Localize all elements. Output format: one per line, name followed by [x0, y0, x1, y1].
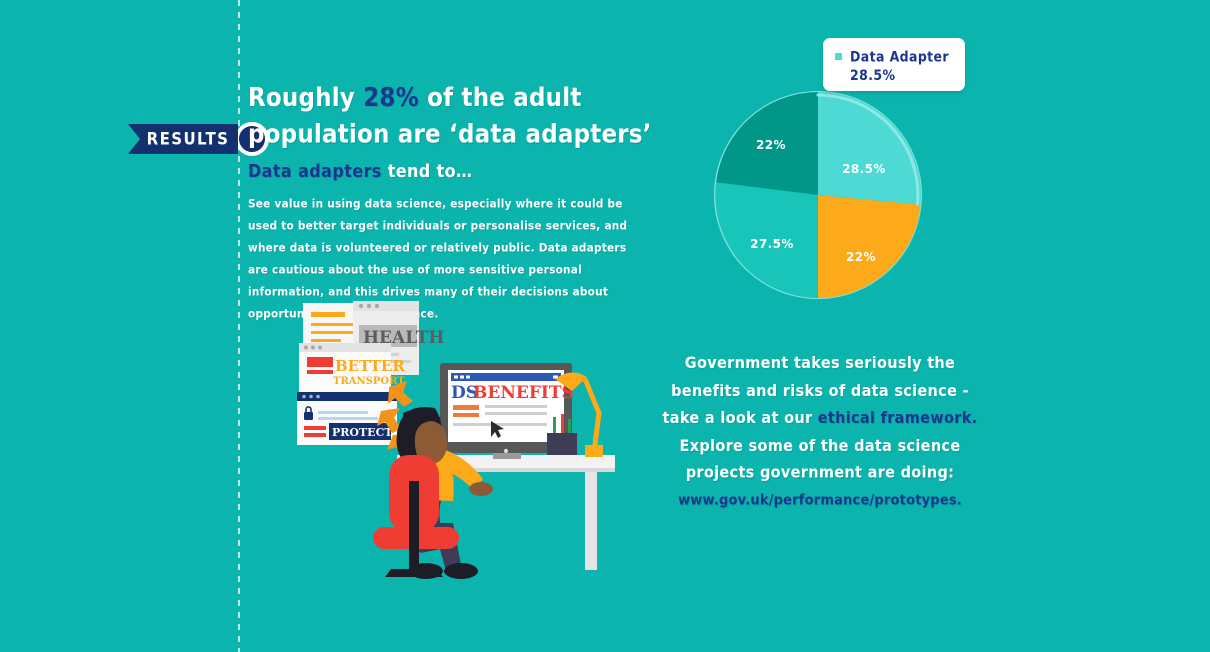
- call-to-action: Government takes seriously the benefits …: [660, 350, 980, 515]
- monitor-brand-benefits: BENEFITS: [473, 383, 574, 403]
- transport-window-title: BETTER: [335, 357, 405, 375]
- cta-url-link[interactable]: www.gov.uk/performance/prototypes.: [660, 487, 980, 514]
- section-subheading: Data adapters tend to…: [248, 160, 472, 181]
- pie-label-4: 22%: [756, 138, 786, 152]
- pie-label-3: 27.5%: [750, 237, 794, 251]
- desk-illustration-svg: HEALTH BETTER TRANSPORT: [285, 295, 630, 580]
- page-title: Roughly 28% of the adult population are …: [248, 80, 668, 154]
- legend-series-value: 28.5%: [850, 67, 895, 84]
- chair-post: [409, 481, 419, 575]
- cta-line-2: Explore some of the data science project…: [680, 437, 961, 482]
- results-ribbon: RESULTS: [128, 124, 238, 154]
- pie-slice-segment-2[interactable]: [818, 195, 921, 298]
- chart-legend-tooltip: Data Adapter 28.5%: [823, 38, 965, 91]
- pie-chart: 28.5% 22% 27.5% 22%: [714, 91, 922, 299]
- cta-ethical-framework-link[interactable]: ethical framework.: [818, 409, 978, 427]
- legend-series-name: Data Adapter: [850, 48, 949, 65]
- pie-label-1: 28.5%: [842, 162, 886, 176]
- legend-swatch-icon: [835, 53, 842, 60]
- subhead-rest: tend to…: [382, 160, 473, 181]
- headline-highlight: 28%: [363, 83, 419, 112]
- headline-before: Roughly: [248, 83, 363, 112]
- infographic-canvas: RESULTS Roughly 28% of the adult populat…: [0, 0, 1210, 652]
- person-hand: [469, 482, 493, 496]
- chair-base: [385, 569, 443, 577]
- pie-label-2: 22%: [846, 250, 876, 264]
- subhead-highlight: Data adapters: [248, 160, 382, 181]
- pie-chart-svg: 28.5% 22% 27.5% 22%: [714, 91, 922, 299]
- results-label: RESULTS: [137, 129, 230, 150]
- desk-illustration: HEALTH BETTER TRANSPORT: [285, 295, 630, 580]
- person-shoe-front: [444, 563, 478, 579]
- legend-text: Data Adapter 28.5%: [850, 47, 949, 84]
- vertical-dashed-divider: [238, 0, 240, 652]
- desk-leg-right: [585, 472, 597, 570]
